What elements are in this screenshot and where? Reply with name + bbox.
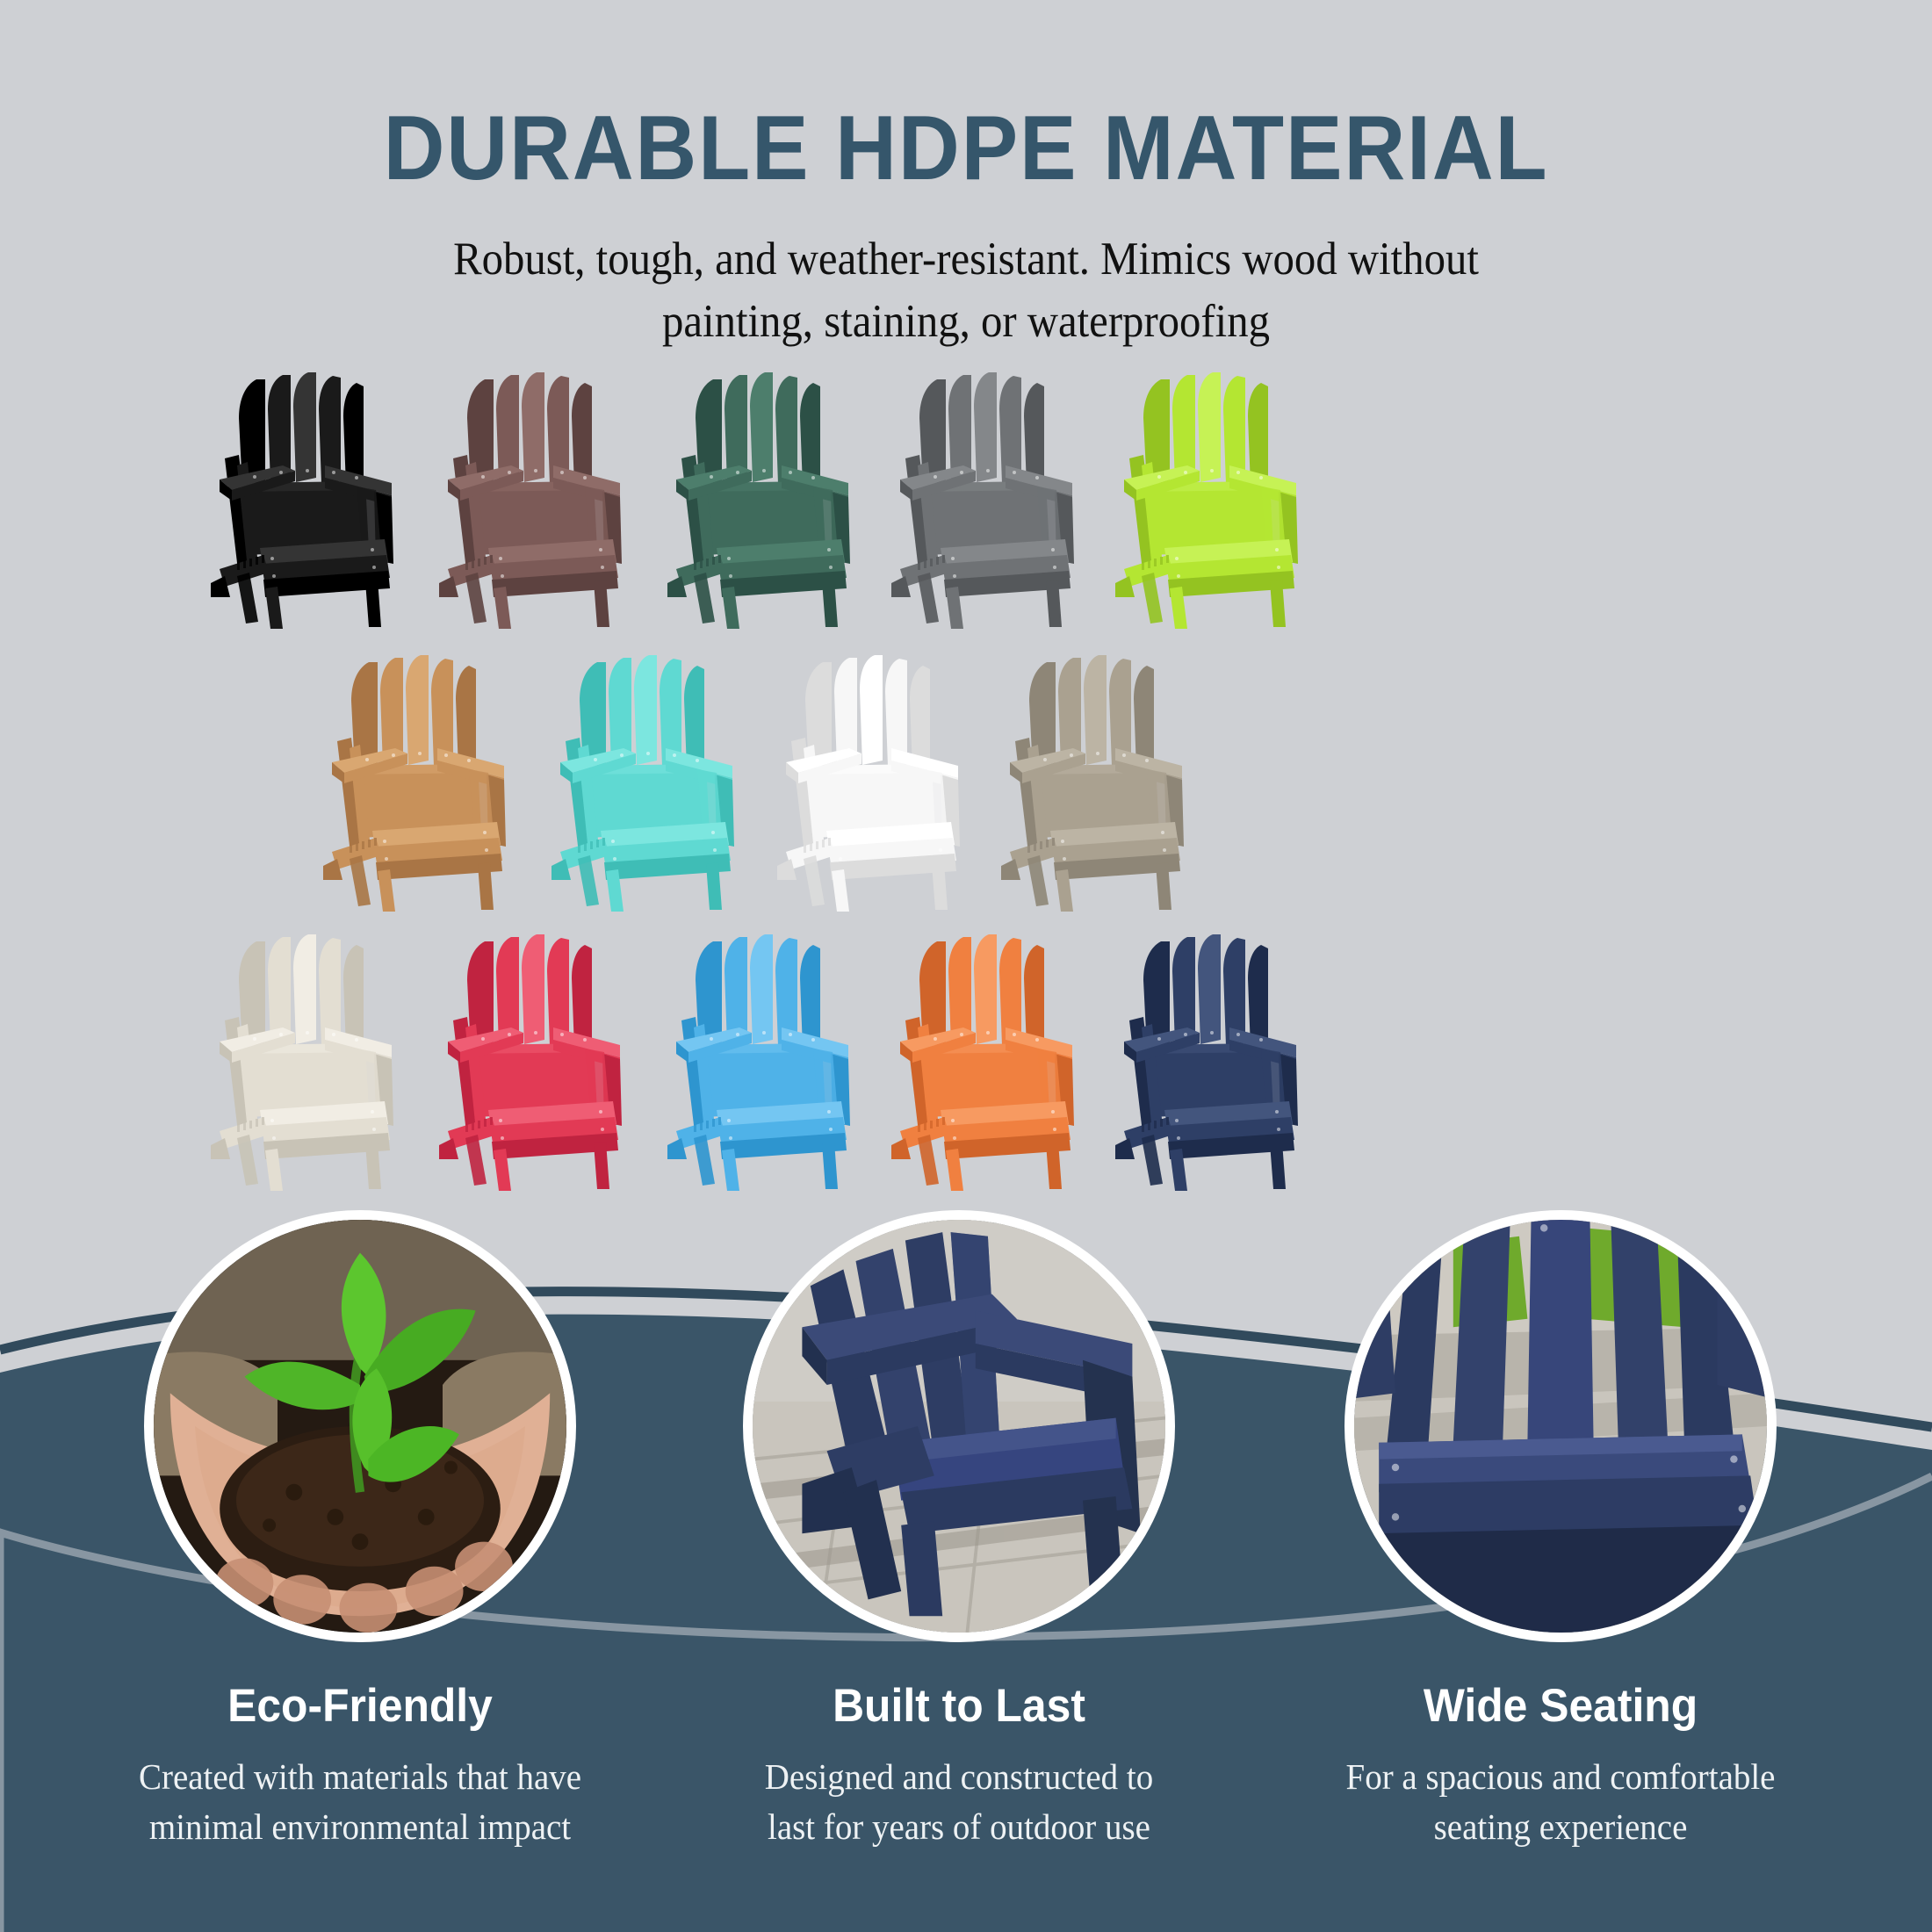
feature-description-line-2: seating experience [1298, 1802, 1824, 1852]
feature-description: For a spacious and comfortableseating ex… [1298, 1752, 1824, 1851]
feature-description-line-1: Designed and constructed to [696, 1752, 1222, 1802]
feature-built-to-last: Built to LastDesigned and constructed to… [682, 1210, 1236, 1851]
feature-image-seedling-in-hands [144, 1210, 576, 1642]
feature-description-line-1: For a spacious and comfortable [1298, 1752, 1824, 1802]
feature-title: Eco-Friendly [100, 1679, 620, 1733]
infographic-canvas: DURABLE HDPE MATERIAL Robust, tough, and… [0, 0, 1932, 1932]
feature-description-line-1: Created with materials that have [97, 1752, 624, 1802]
feature-description: Created with materials that haveminimal … [97, 1752, 624, 1851]
feature-description: Designed and constructed tolast for year… [696, 1752, 1222, 1851]
feature-title: Built to Last [699, 1679, 1219, 1733]
feature-description-line-2: minimal environmental impact [97, 1802, 624, 1852]
feature-description-line-2: last for years of outdoor use [696, 1802, 1222, 1852]
feature-eco-friendly: Eco-FriendlyCreated with materials that … [83, 1210, 637, 1851]
feature-wide-seating: Wide SeatingFor a spacious and comfortab… [1284, 1210, 1837, 1851]
feature-image-navy-chair-seat-closeup [1344, 1210, 1777, 1642]
feature-title: Wide Seating [1301, 1679, 1820, 1733]
feature-image-navy-chair-patio [743, 1210, 1175, 1642]
feature-row: Eco-FriendlyCreated with materials that … [0, 0, 1932, 1932]
